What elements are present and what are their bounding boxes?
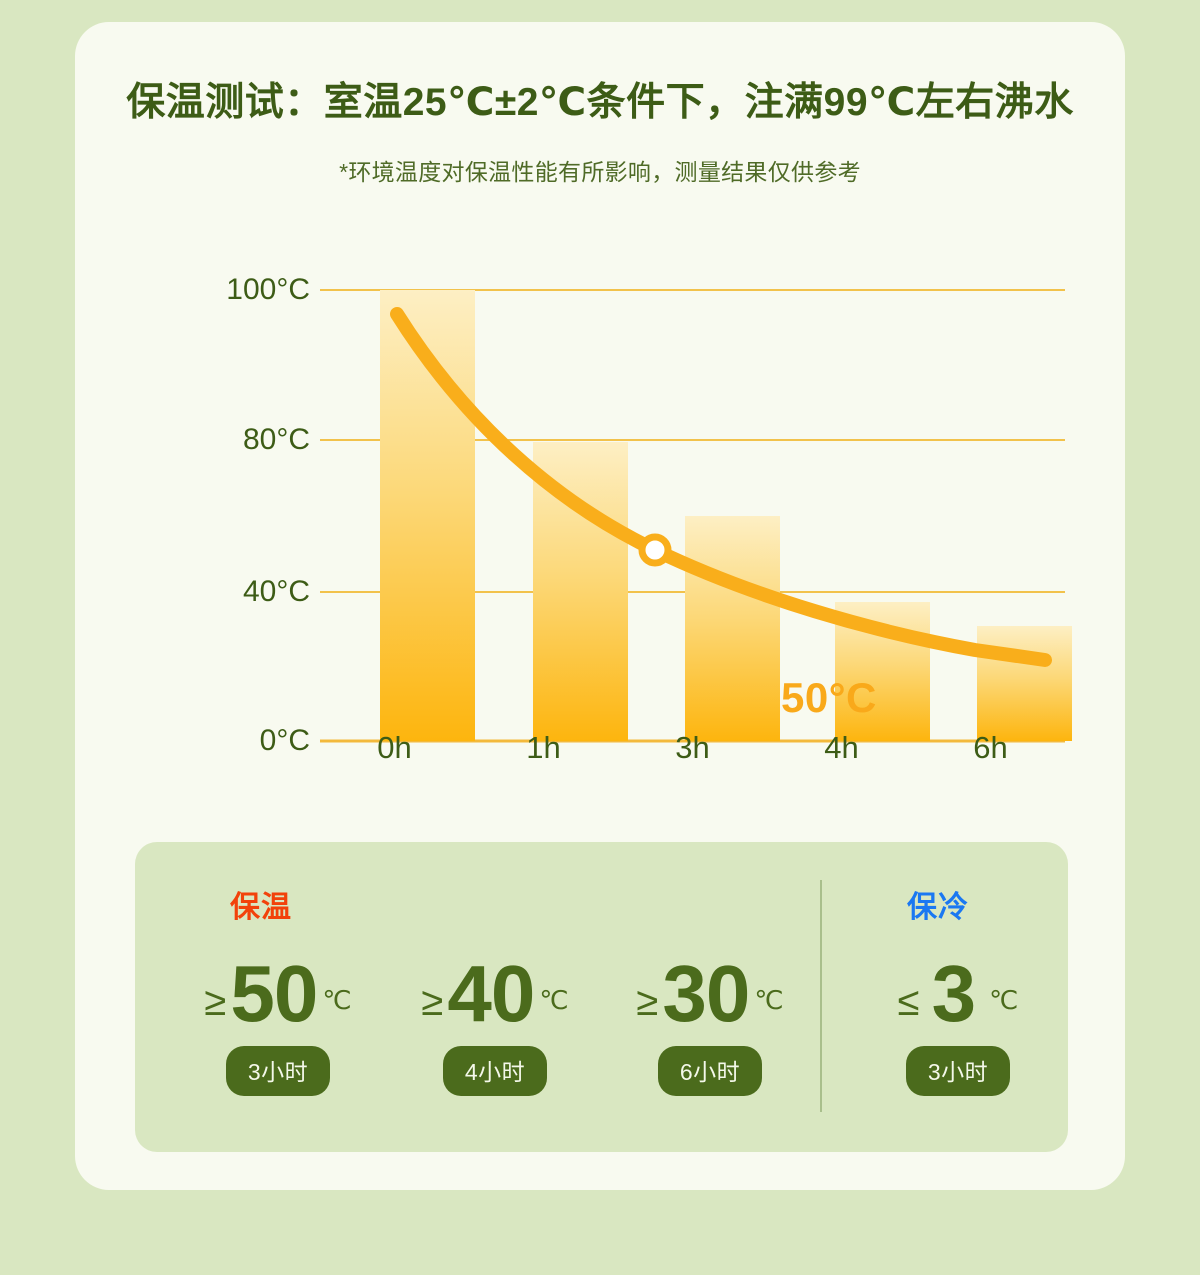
spec-number: 50 xyxy=(230,954,317,1034)
spec-item-hot-40: ≥ 40 ℃ 4小时 xyxy=(390,954,600,1096)
x-axis: 0h 1h 3h 4h 6h xyxy=(320,702,1065,762)
spec-number: 3 xyxy=(932,954,976,1034)
comparator-symbol: ≥ xyxy=(636,982,658,1022)
x-tick-3h: 3h xyxy=(618,702,767,762)
spec-number: 40 xyxy=(447,954,534,1034)
page-title: 保温测试：室温25℃±2℃条件下，注满99℃左右沸水 xyxy=(75,80,1125,127)
y-tick-80: 80°C xyxy=(243,423,310,457)
spec-panel: 保温 保冷 ≥ 50 ℃ 3小时 ≥ 40 ℃ 4小时 xyxy=(135,842,1068,1152)
spec-unit: ℃ xyxy=(989,987,1018,1013)
spec-unit: ℃ xyxy=(754,987,783,1013)
comparator-symbol: ≥ xyxy=(204,982,226,1022)
spec-duration-pill: 3小时 xyxy=(906,1046,1010,1096)
content-card: 保温测试：室温25℃±2℃条件下，注满99℃左右沸水 *环境温度对保温性能有所影… xyxy=(75,22,1125,1190)
y-tick-100: 100°C xyxy=(226,273,310,307)
spec-item-hot-50: ≥ 50 ℃ 3小时 xyxy=(173,954,383,1096)
spec-duration-pill: 3小时 xyxy=(226,1046,330,1096)
spec-value-row: ≤ 3 ℃ xyxy=(853,954,1063,1034)
spec-heading-cold: 保冷 xyxy=(907,882,969,926)
x-tick-1h: 1h xyxy=(469,702,618,762)
spec-number: 30 xyxy=(662,954,749,1034)
y-tick-0: 0°C xyxy=(260,724,310,758)
chart-bars xyxy=(380,290,1072,741)
spec-items: ≥ 50 ℃ 3小时 ≥ 40 ℃ 4小时 ≥ 30 ℃ xyxy=(135,954,1068,1134)
temperature-chart: 100°C 80°C 40°C 0°C 0h 1h 3h 4h 6h 50°C xyxy=(135,232,1065,812)
comparator-symbol: ≤ xyxy=(898,982,920,1022)
spec-value-row: ≥ 40 ℃ xyxy=(390,954,600,1034)
spec-value-row: ≥ 50 ℃ xyxy=(173,954,383,1034)
y-tick-40: 40°C xyxy=(243,575,310,609)
spec-headings: 保温 保冷 xyxy=(135,882,1068,928)
spec-item-hot-30: ≥ 30 ℃ 6小时 xyxy=(605,954,815,1096)
spec-duration-pill: 6小时 xyxy=(658,1046,762,1096)
x-tick-0h: 0h xyxy=(320,702,469,762)
spec-unit: ℃ xyxy=(322,987,351,1013)
comparator-symbol: ≥ xyxy=(421,982,443,1022)
spec-unit: ℃ xyxy=(539,987,568,1013)
peak-marker-dot xyxy=(642,537,668,563)
peak-annotation-label: 50°C xyxy=(781,674,877,722)
spec-value-row: ≥ 30 ℃ xyxy=(605,954,815,1034)
spec-heading-hot: 保温 xyxy=(230,882,292,926)
spec-duration-pill: 4小时 xyxy=(443,1046,547,1096)
spec-item-cold-3: ≤ 3 ℃ 3小时 xyxy=(853,954,1063,1096)
x-tick-6h: 6h xyxy=(916,702,1065,762)
page-subtitle: *环境温度对保温性能有所影响，测量结果仅供参考 xyxy=(75,153,1125,187)
header: 保温测试：室温25℃±2℃条件下，注满99℃左右沸水 *环境温度对保温性能有所影… xyxy=(75,80,1125,187)
